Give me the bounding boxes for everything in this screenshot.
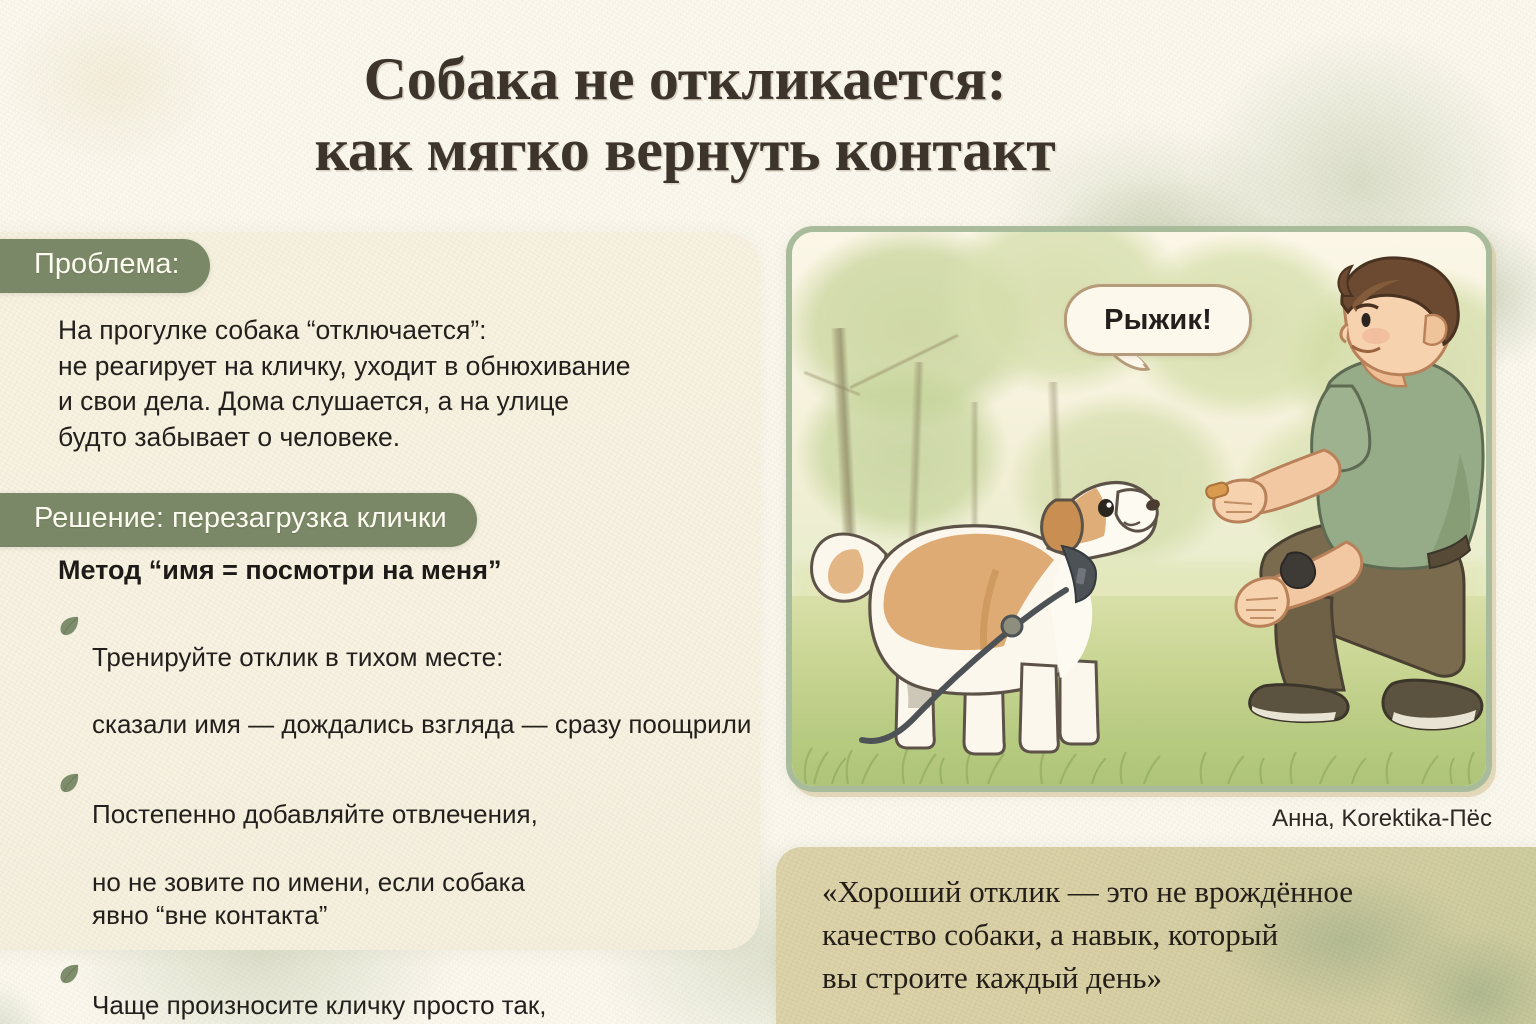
list-item-rest: но не зовите по имени, если собака явно …: [92, 867, 525, 931]
illustration-frame: Рыжик!: [786, 226, 1492, 792]
list-item: Чаще произносите кличку просто так, пере…: [58, 955, 758, 1024]
leaf-bullet-icon: [58, 615, 80, 637]
method-title: Метод “имя = посмотри на меня”: [58, 555, 501, 586]
list-item-rest: сказали имя — дождались взгляда — сразу …: [92, 709, 751, 739]
problem-description: На прогулке собака “отключается”: не реа…: [58, 313, 758, 455]
list-item-lead: Постепенно добавляйте отвлечения,: [92, 798, 538, 832]
list-item-text: Постепенно добавляйте отвлечения, но не …: [92, 764, 538, 933]
list-item: Тренируйте отклик в тихом месте: сказали…: [58, 607, 758, 742]
list-item: Постепенно добавляйте отвлечения, но не …: [58, 764, 758, 933]
page-title: Собака не откликается: как мягко вернуть…: [0, 44, 1370, 186]
quote-box: «Хороший отклик — это не врождённое каче…: [776, 847, 1536, 1024]
speech-bubble: Рыжик!: [1064, 284, 1252, 356]
list-item-lead: Тренируйте отклик в тихом месте:: [92, 641, 751, 675]
leaf-bullet-icon: [58, 772, 80, 794]
author-credit: Анна, Korektika-Пёс: [1272, 805, 1492, 833]
solution-steps-list: Тренируйте отклик в тихом месте: сказали…: [58, 607, 758, 1024]
leaf-bullet-icon: [58, 963, 80, 985]
quote-text: «Хороший отклик — это не врождённое каче…: [822, 871, 1502, 999]
illustration-park-scene: Рыжик!: [792, 232, 1486, 786]
solution-badge: Решение: перезагрузка клички: [0, 493, 477, 547]
list-item-text: Чаще произносите кличку просто так, пере…: [92, 955, 616, 1024]
problem-badge-label: Проблема:: [34, 248, 180, 281]
problem-badge: Проблема:: [0, 239, 210, 293]
speech-bubble-text: Рыжик!: [1104, 304, 1212, 337]
solution-badge-label: Решение: перезагрузка клички: [34, 502, 447, 535]
page-title-line-1: Собака не откликается:: [364, 46, 1007, 112]
list-item-text: Тренируйте отклик в тихом месте: сказали…: [92, 607, 751, 742]
dog-illustration: [800, 450, 1160, 770]
list-item-lead: Чаще произносите кличку просто так,: [92, 989, 616, 1023]
infographic-poster: Собака не откликается: как мягко вернуть…: [0, 0, 1536, 1024]
page-title-line-2: как мягко вернуть контакт: [0, 115, 1370, 186]
